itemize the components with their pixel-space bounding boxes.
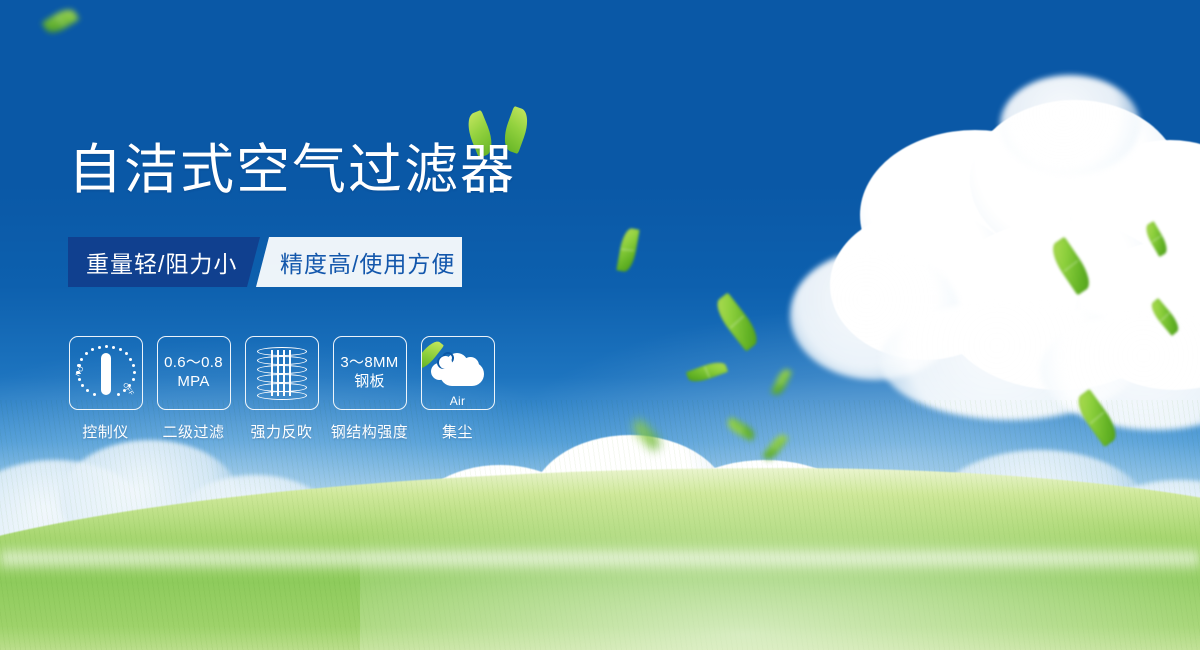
gauge-needle — [101, 353, 111, 395]
pressure-line-2: MPA — [164, 373, 223, 392]
feature-label: 钢结构强度 — [331, 421, 409, 442]
feature-icon-box: 3～8MM 钢板 — [333, 336, 407, 410]
cloud-air-label: Air — [430, 394, 486, 408]
feature-icon-box — [245, 336, 319, 410]
feature-label: 强力反吹 — [250, 421, 312, 442]
product-banner: 自洁式空气过滤器 重量轻/阻力小 精度高/使用方便 — [0, 0, 1200, 650]
gauge-off-label: OFF — [121, 382, 135, 398]
cloud-air-icon: Air — [430, 350, 486, 396]
subtitle-segment-secondary: 精度高/使用方便 — [256, 237, 462, 287]
subtitle-text-right: 精度高/使用方便 — [256, 245, 455, 279]
filter-cartridge-icon — [257, 347, 307, 399]
gauge-dial-icon: NO OFF — [76, 344, 136, 402]
feature-item-controller[interactable]: NO OFF 控制仪 — [68, 336, 143, 442]
feature-icon-box: Air — [421, 336, 495, 410]
steel-plate-text-icon: 3～8MM 钢板 — [340, 354, 398, 391]
subtitle-text-left: 重量轻/阻力小 — [68, 245, 237, 279]
pressure-text-icon: 0.6～0.8 MPA — [164, 354, 223, 391]
feature-item-dust-collection[interactable]: Air 集尘 — [420, 336, 495, 442]
feature-icon-box: NO OFF — [69, 336, 143, 410]
steel-line-1: 3～8MM — [340, 354, 398, 373]
subtitle-segment-primary: 重量轻/阻力小 — [68, 237, 260, 287]
ground-highlight — [360, 490, 1200, 650]
feature-item-pulse-blowback[interactable]: 强力反吹 — [244, 336, 319, 442]
gauge-on-label: NO — [74, 365, 85, 378]
subtitle-bar: 重量轻/阻力小 精度高/使用方便 — [68, 237, 462, 287]
feature-label: 控制仪 — [82, 421, 129, 442]
feature-label: 集尘 — [442, 421, 473, 442]
page-title: 自洁式空气过滤器 — [68, 140, 516, 200]
pressure-line-1: 0.6～0.8 — [164, 354, 223, 373]
steel-line-2: 钢板 — [340, 373, 398, 392]
feature-list: NO OFF 控制仪 0.6～0.8 MPA 二级过滤 — [68, 336, 495, 442]
feature-item-steel-strength[interactable]: 3～8MM 钢板 钢结构强度 — [332, 336, 407, 442]
feature-icon-box: 0.6～0.8 MPA — [157, 336, 231, 410]
feature-item-two-stage-filter[interactable]: 0.6～0.8 MPA 二级过滤 — [156, 336, 231, 442]
feature-label: 二级过滤 — [162, 421, 224, 442]
